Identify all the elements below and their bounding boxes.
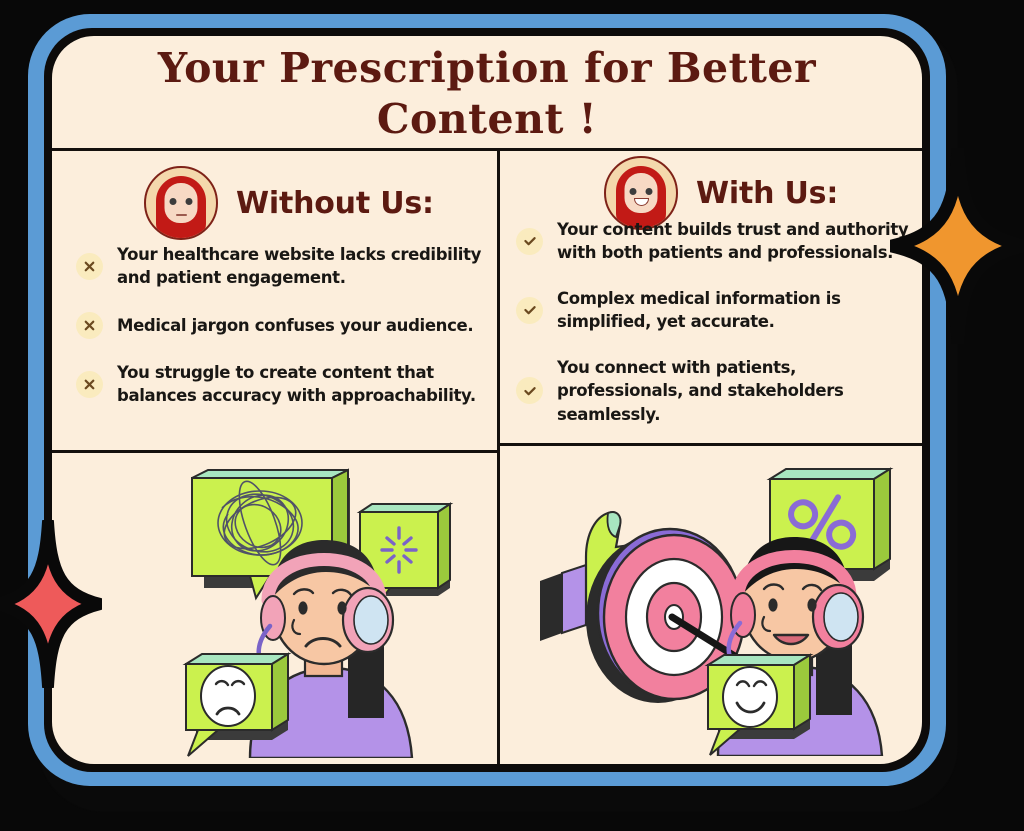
check-icon [516, 297, 543, 324]
title-band: Your Prescription for Better Content ! [52, 36, 922, 148]
list-item: Your healthcare website lacks credibilit… [76, 243, 486, 290]
infographic-canvas: Your Prescription for Better Content ! W… [0, 0, 1024, 831]
divider-left-column [52, 450, 498, 453]
column-header-without-us: Without Us: [144, 166, 434, 240]
sparkle-red [0, 520, 102, 688]
list-item: You struggle to create content that bala… [76, 361, 486, 408]
eye-right [186, 198, 193, 205]
mouth-smile [634, 198, 649, 206]
list-item-text: Your healthcare website lacks credibilit… [117, 243, 486, 290]
list-item-text: Complex medical information is simplifie… [557, 287, 916, 334]
list-item: Medical jargon confuses your audience. [76, 312, 486, 339]
list-item: Your content builds trust and authority … [516, 218, 916, 265]
list-item-text: You struggle to create content that bala… [117, 361, 486, 408]
face-shape [165, 183, 198, 223]
list-item-text: Medical jargon confuses your audience. [117, 314, 473, 337]
mouth-neutral [176, 214, 187, 217]
face-shape [625, 173, 658, 213]
bullet-list-with-us: Your content builds trust and authority … [516, 218, 916, 426]
eye-left [170, 198, 177, 205]
column-title-with-us: With Us: [696, 176, 838, 211]
eye-left [630, 188, 637, 195]
cross-icon [76, 253, 103, 280]
cross-icon [76, 312, 103, 339]
check-icon [516, 228, 543, 255]
divider-right-column [498, 443, 922, 446]
check-icon [516, 377, 543, 404]
list-item: Complex medical information is simplifie… [516, 287, 916, 334]
list-item: You connect with patients, professionals… [516, 356, 916, 426]
frustrated-agent-illustration [172, 468, 472, 758]
page-title: Your Prescription for Better Content ! [92, 43, 882, 146]
divider-vertical [497, 148, 500, 764]
content-card: Your Prescription for Better Content ! W… [52, 36, 922, 764]
successful-agent-illustration [522, 461, 902, 756]
column-title-without-us: Without Us: [236, 186, 434, 221]
list-item-text: You connect with patients, professionals… [557, 356, 916, 426]
divider-under-title [52, 148, 922, 151]
list-item-text: Your content builds trust and authority … [557, 218, 916, 265]
eye-right [646, 188, 653, 195]
sparkle-orange [890, 148, 1024, 344]
cross-icon [76, 371, 103, 398]
avatar-neutral [144, 166, 218, 240]
bullet-list-without-us: Your healthcare website lacks credibilit… [76, 243, 486, 408]
